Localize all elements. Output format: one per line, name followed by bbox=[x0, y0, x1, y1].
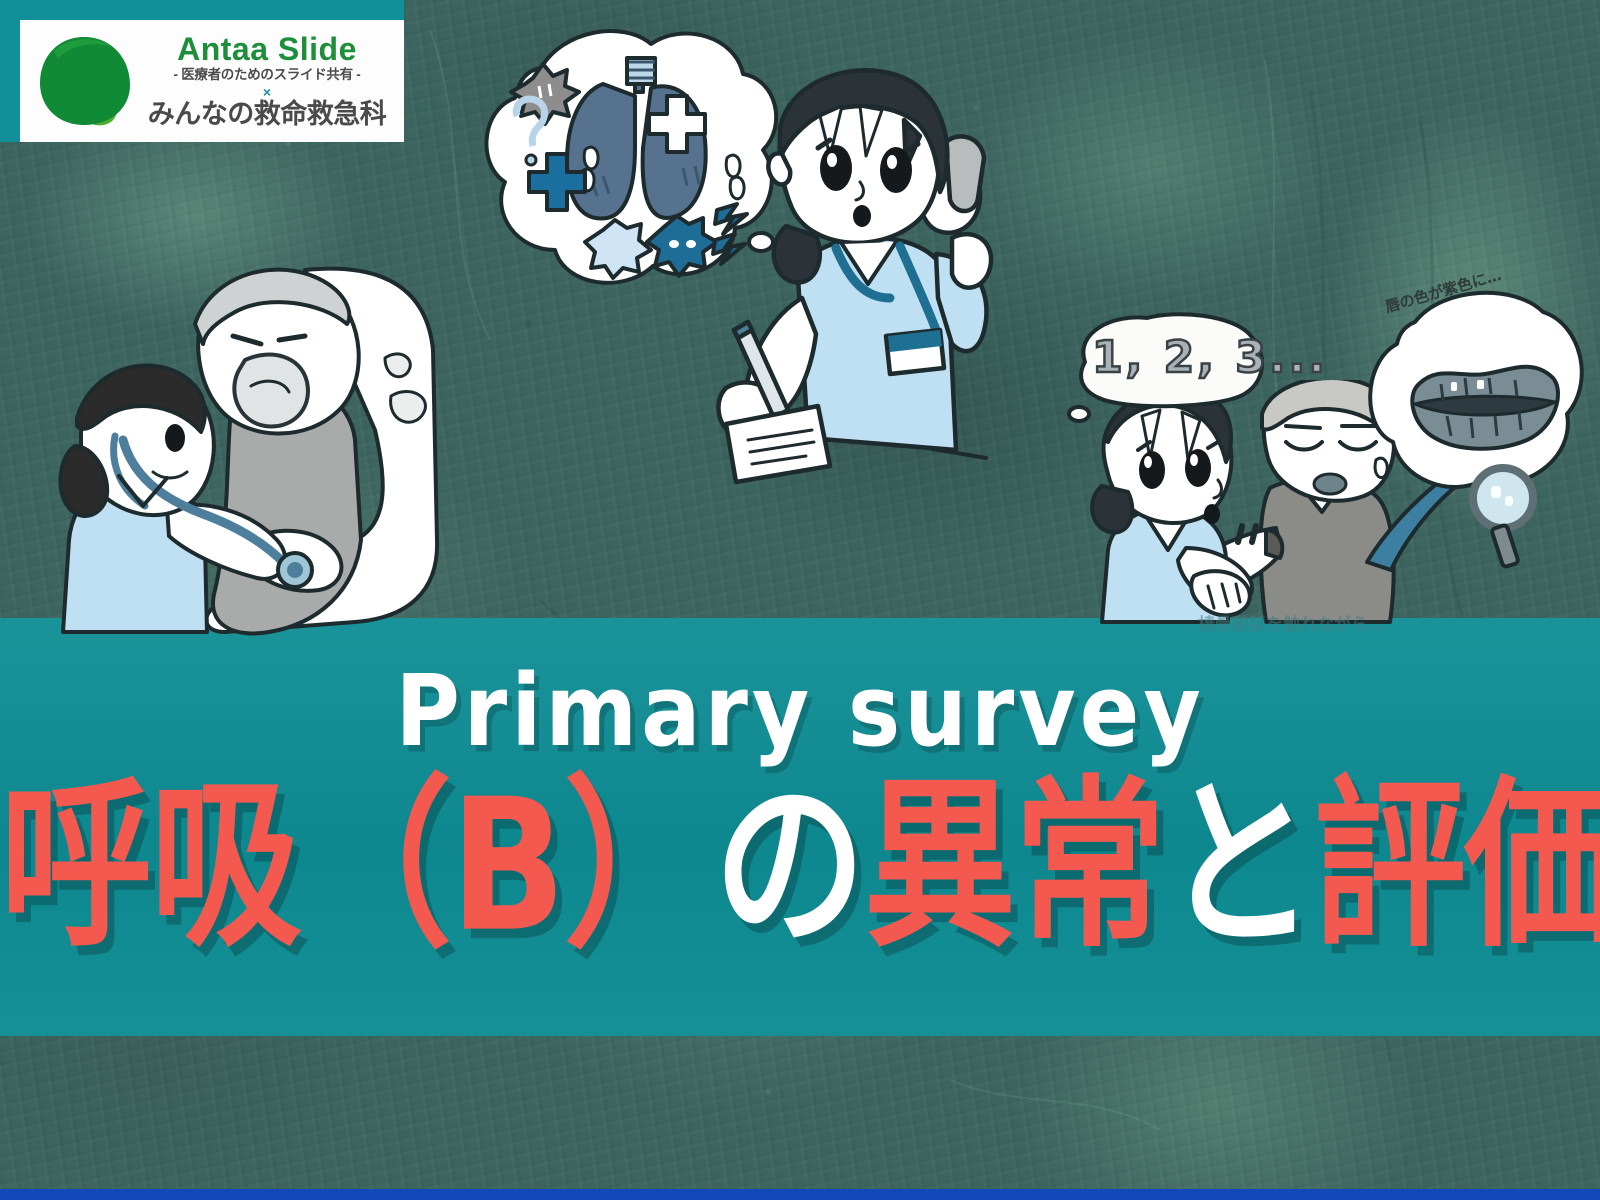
logo-tagline: - 医療者のためのスライド共有 - bbox=[138, 66, 396, 84]
title-segment-1: の bbox=[714, 759, 864, 971]
illustration-cyanotic-lips-bubble bbox=[1275, 282, 1600, 582]
pulse-caption-annotation: 橈骨動脈を触れながら… bbox=[1198, 610, 1385, 635]
logo-brand-name: Antaa Slide bbox=[138, 33, 396, 67]
title-segment-0: 呼吸（B） bbox=[0, 759, 714, 971]
title-segment-2: 異常 bbox=[864, 759, 1164, 971]
logo-badge-inner: Antaa Slide - 医療者のためのスライド共有 - × みんなの救命救急… bbox=[20, 20, 404, 142]
logo-partner-name: みんなの救命救急科 bbox=[138, 100, 396, 128]
illustration-nurse-auscultating-patient bbox=[55, 240, 475, 660]
bottom-accent-strip bbox=[0, 1189, 1600, 1200]
antaa-leaf-logo-icon bbox=[34, 29, 138, 133]
slide-eyebrow-title: Primary survey bbox=[0, 653, 1600, 768]
logo-separator: × bbox=[138, 85, 396, 99]
logo-text-block: Antaa Slide - 医療者のためのスライド共有 - × みんなの救命救急… bbox=[138, 33, 404, 128]
title-segment-4: 評価 bbox=[1314, 759, 1600, 971]
logo-badge[interactable]: Antaa Slide - 医療者のためのスライド共有 - × みんなの救命救急… bbox=[0, 0, 404, 142]
slide-canvas: 1, 2, 3... bbox=[0, 0, 1600, 1200]
title-segment-3: と bbox=[1164, 759, 1314, 971]
slide-main-title: 呼吸（B）の異常と評価 bbox=[0, 775, 1600, 957]
illustration-nurse-on-phone-taking-notes bbox=[690, 58, 1040, 558]
